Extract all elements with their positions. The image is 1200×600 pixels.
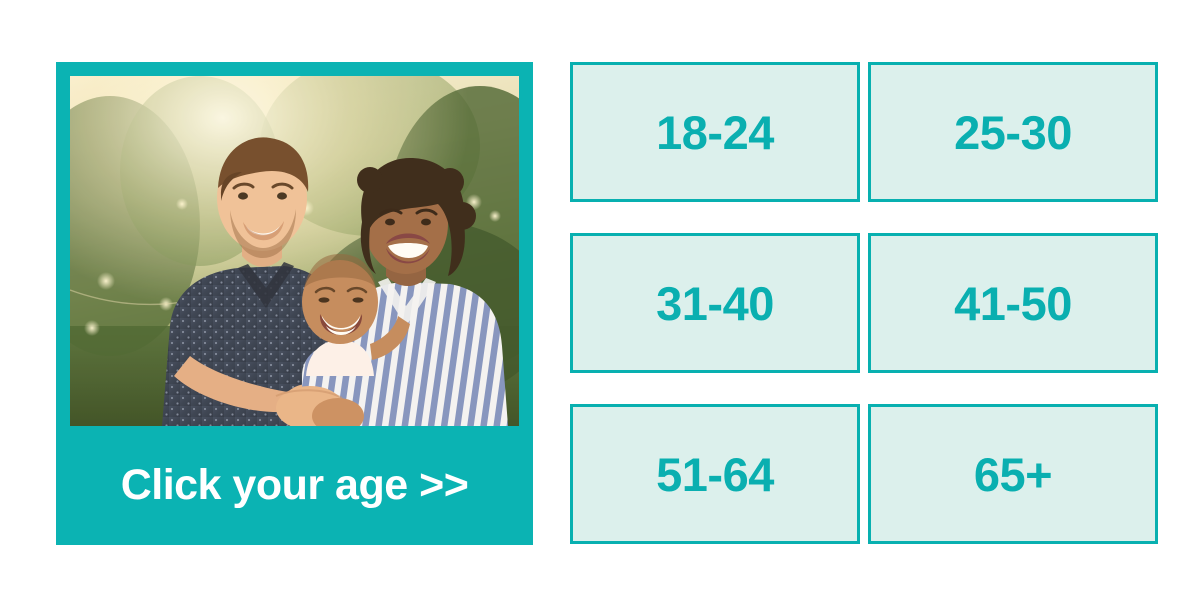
age-button-label: 41-50 xyxy=(954,280,1072,327)
age-button-label: 18-24 xyxy=(656,109,774,156)
promo-card[interactable]: Click your age >> xyxy=(56,62,533,545)
promo-caption-text: Click your age >> xyxy=(121,461,469,510)
age-button-41-50[interactable]: 41-50 xyxy=(868,233,1158,373)
age-button-18-24[interactable]: 18-24 xyxy=(570,62,860,202)
age-selector-page: Click your age >> 18-24 25-30 31-40 41-5… xyxy=(0,0,1200,600)
age-button-25-30[interactable]: 25-30 xyxy=(868,62,1158,202)
family-photo xyxy=(70,76,519,426)
age-button-label: 65+ xyxy=(974,451,1052,498)
age-button-31-40[interactable]: 31-40 xyxy=(570,233,860,373)
age-button-51-64[interactable]: 51-64 xyxy=(570,404,860,544)
age-button-65-plus[interactable]: 65+ xyxy=(868,404,1158,544)
age-button-label: 31-40 xyxy=(656,280,774,327)
age-button-label: 25-30 xyxy=(954,109,1072,156)
age-range-grid: 18-24 25-30 31-40 41-50 51-64 65+ xyxy=(570,62,1152,545)
promo-caption: Click your age >> xyxy=(56,426,533,545)
family-photo-illustration xyxy=(70,76,519,426)
age-button-label: 51-64 xyxy=(656,451,774,498)
